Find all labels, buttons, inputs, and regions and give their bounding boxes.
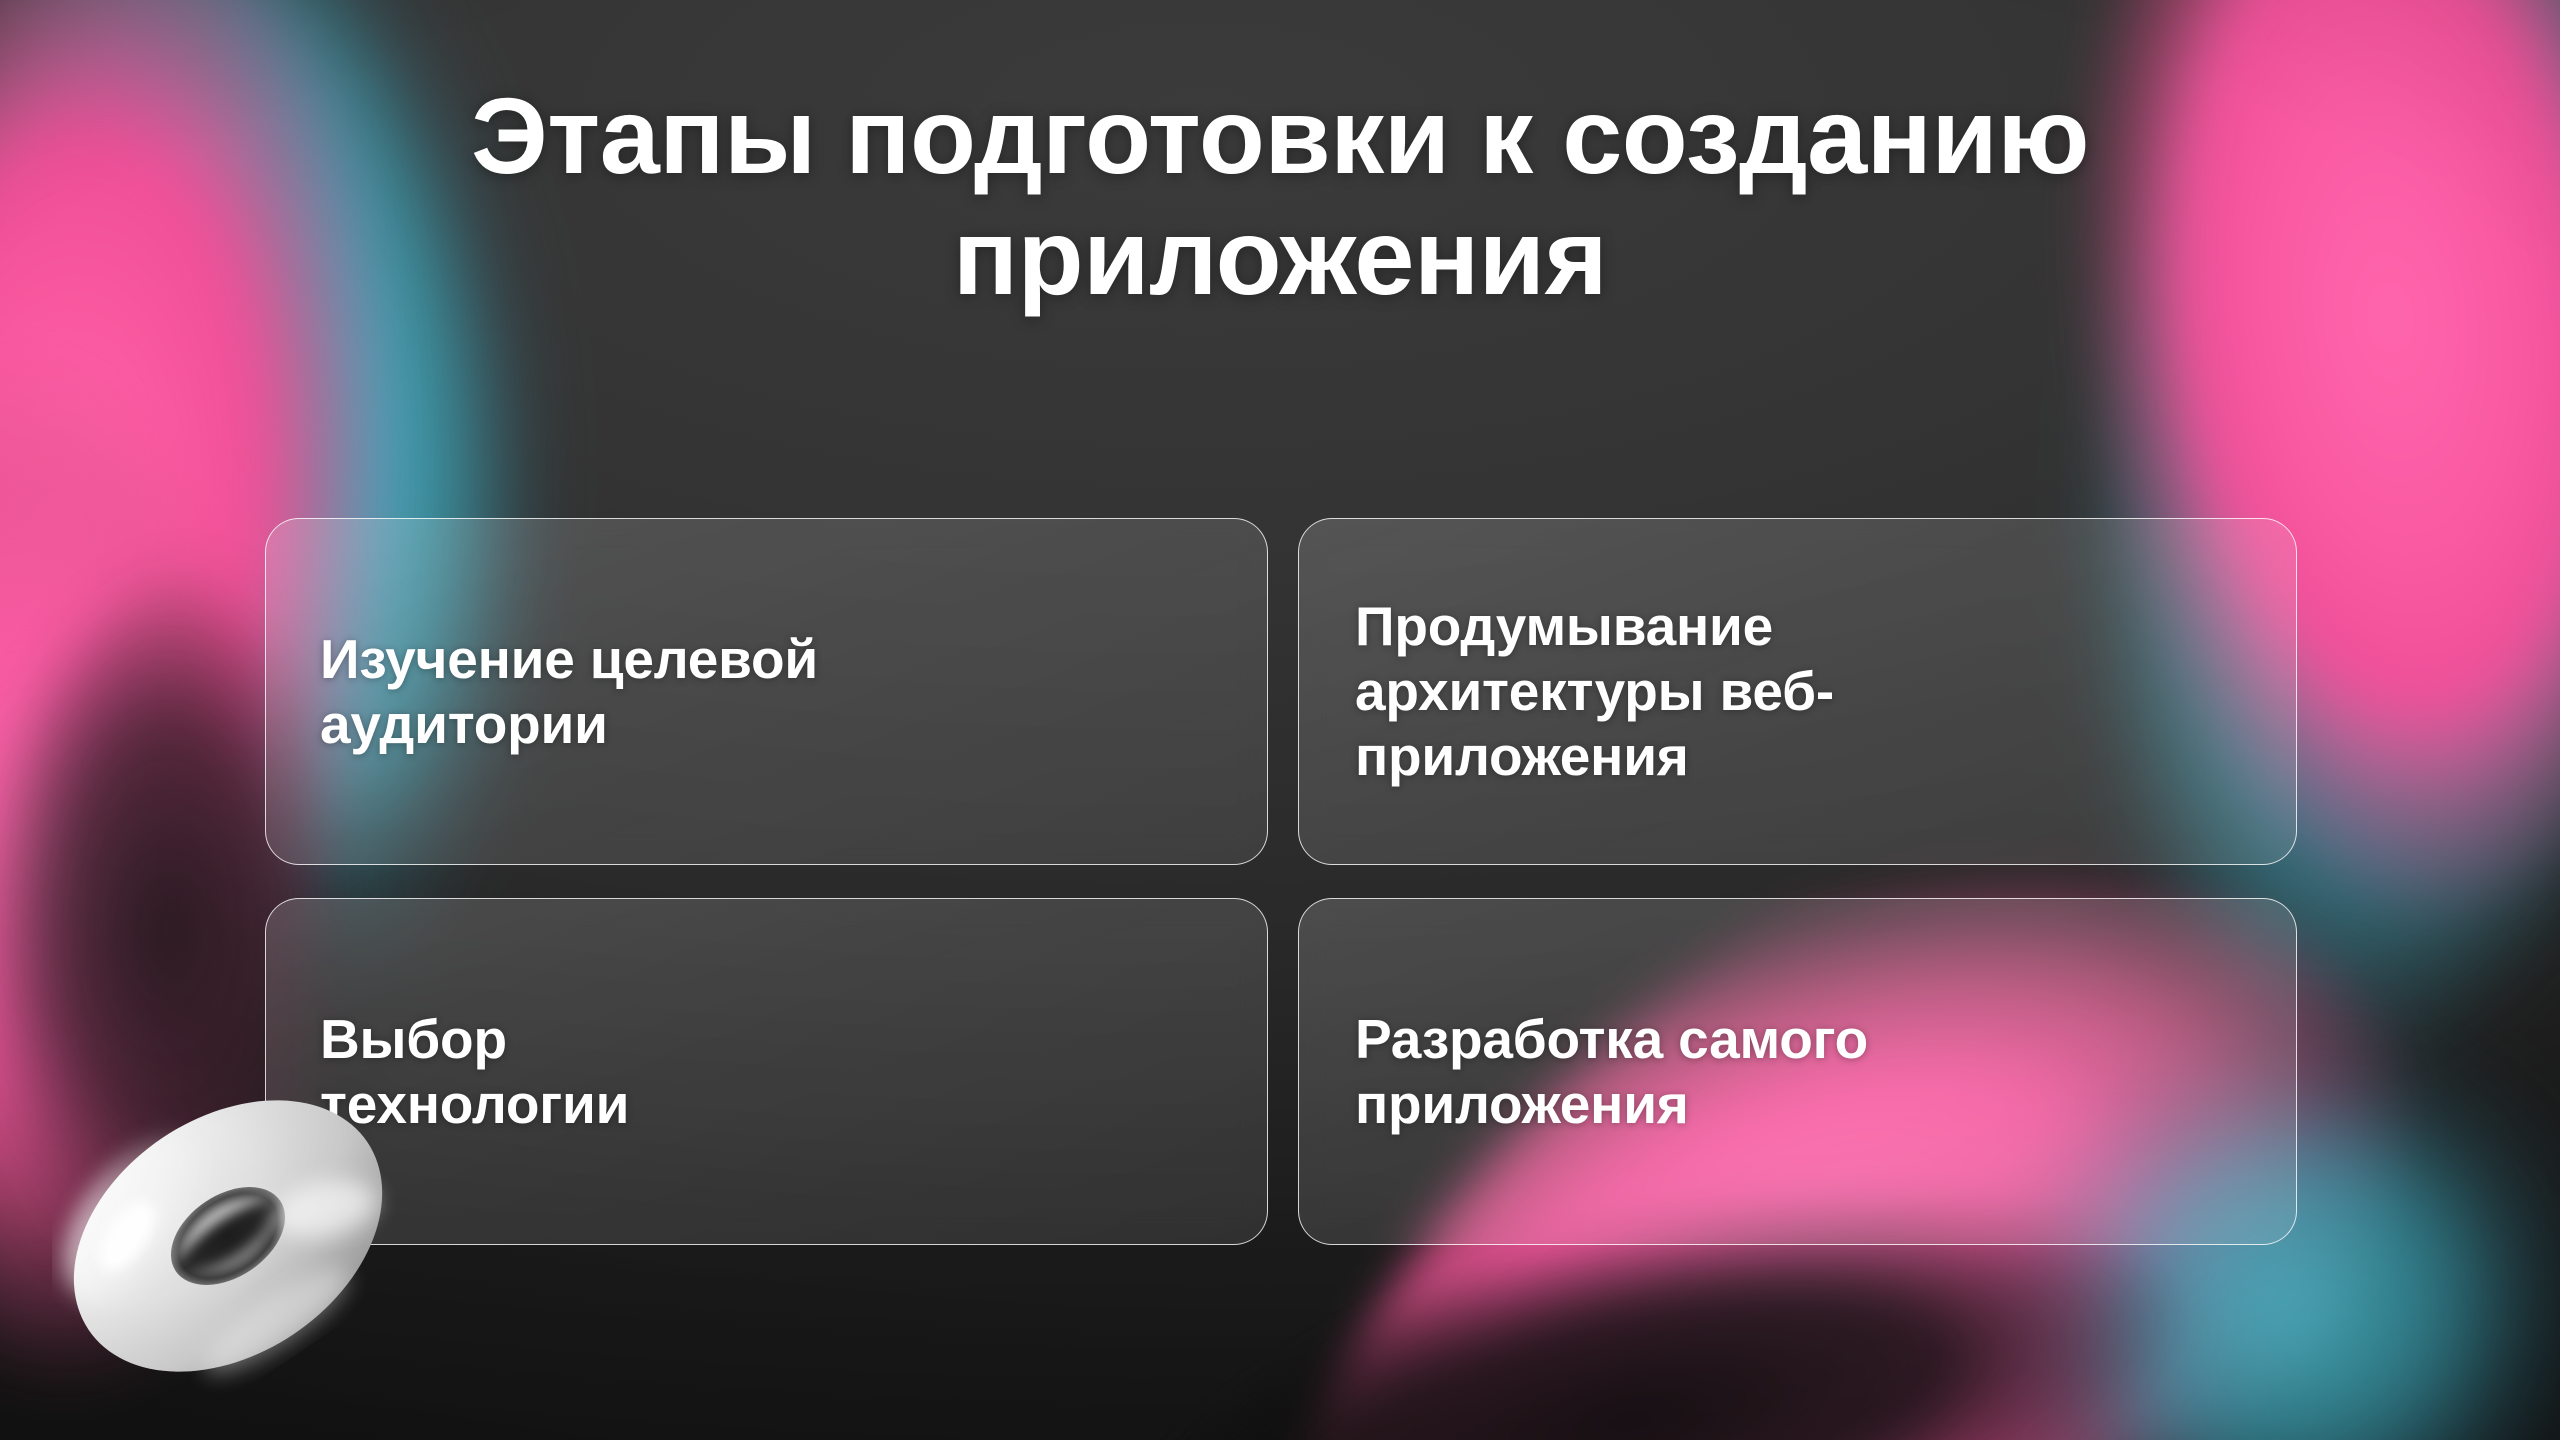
steps-card-grid: Изучение целевой аудитории Продумывание … xyxy=(265,518,2297,1245)
step-card-architecture[interactable]: Продумывание архитектуры веб- приложения xyxy=(1298,518,2297,865)
step-card-development[interactable]: Разработка самого приложения xyxy=(1298,898,2297,1245)
step-card-target-audience[interactable]: Изучение целевой аудитории xyxy=(265,518,1268,865)
step-card-technology-choice[interactable]: Выбор технологии xyxy=(265,898,1268,1245)
step-card-label: Продумывание архитектуры веб- приложения xyxy=(1299,594,1888,789)
step-card-label: Разработка самого приложения xyxy=(1299,1007,1922,1137)
slide-title: Этапы подготовки к созданию приложения xyxy=(330,76,2230,318)
presentation-slide: Этапы подготовки к созданию приложения И… xyxy=(0,0,2560,1440)
step-card-label: Выбор технологии xyxy=(266,1007,683,1137)
step-card-label: Изучение целевой аудитории xyxy=(266,627,872,757)
